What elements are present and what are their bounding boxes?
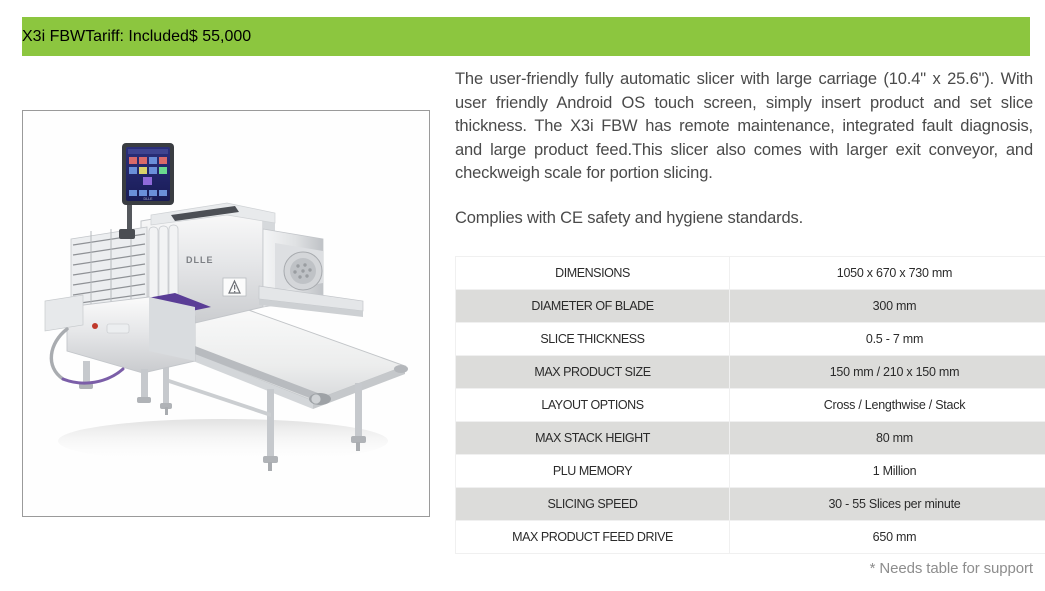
spec-row: MAX PRODUCT SIZE150 mm / 210 x 150 mm bbox=[456, 356, 1045, 389]
description-paragraph: The user-friendly fully automatic slicer… bbox=[455, 68, 1033, 186]
spec-label: LAYOUT OPTIONS bbox=[456, 389, 730, 422]
spec-label: PLU MEMORY bbox=[456, 455, 730, 488]
spec-row: SLICE THICKNESS0.5 - 7 mm bbox=[456, 323, 1045, 356]
spec-label: DIAMETER OF BLADE bbox=[456, 290, 730, 323]
specifications-table: DIMENSIONS1050 x 670 x 730 mmDIAMETER OF… bbox=[455, 256, 1045, 554]
spec-row: DIAMETER OF BLADE300 mm bbox=[456, 290, 1045, 323]
spec-label: DIMENSIONS bbox=[456, 257, 730, 290]
spec-value: 1050 x 670 x 730 mm bbox=[730, 257, 1045, 290]
spec-row: DIMENSIONS1050 x 670 x 730 mm bbox=[456, 257, 1045, 290]
spec-value: 30 - 55 Slices per minute bbox=[730, 488, 1045, 521]
spec-value: Cross / Lengthwise / Stack bbox=[730, 389, 1045, 422]
svg-text:DLLE: DLLE bbox=[144, 197, 154, 201]
product-image-frame: DLLE DLLE bbox=[22, 110, 430, 517]
spec-row: MAX PRODUCT FEED DRIVE650 mm bbox=[456, 521, 1045, 554]
spec-label: MAX PRODUCT SIZE bbox=[456, 356, 730, 389]
slicer-illustration: DLLE DLLE bbox=[23, 111, 429, 516]
product-header-bar: X3i FBW Tariff: Included $ 55,000 bbox=[22, 17, 1030, 56]
model-title: X3i FBW bbox=[22, 28, 85, 46]
specifications-table-body: DIMENSIONS1050 x 670 x 730 mmDIAMETER OF… bbox=[456, 257, 1045, 554]
spec-value: 300 mm bbox=[730, 290, 1045, 323]
footnote: * Needs table for support bbox=[455, 560, 1033, 577]
spec-label: SLICING SPEED bbox=[456, 488, 730, 521]
spec-value: 0.5 - 7 mm bbox=[730, 323, 1045, 356]
product-photo-slicer: DLLE DLLE bbox=[23, 111, 429, 516]
spec-value: 150 mm / 210 x 150 mm bbox=[730, 356, 1045, 389]
tariff-label: Tariff: Included bbox=[85, 28, 189, 46]
spec-row: SLICING SPEED30 - 55 Slices per minute bbox=[456, 488, 1045, 521]
compliance-paragraph: Complies with CE safety and hygiene stan… bbox=[455, 207, 1033, 231]
spec-label: SLICE THICKNESS bbox=[456, 323, 730, 356]
spec-value: 80 mm bbox=[730, 422, 1045, 455]
price-label: $ 55,000 bbox=[189, 28, 251, 46]
spec-row: PLU MEMORY1 Million bbox=[456, 455, 1045, 488]
spec-row: MAX STACK HEIGHT80 mm bbox=[456, 422, 1045, 455]
spec-label: MAX PRODUCT FEED DRIVE bbox=[456, 521, 730, 554]
description-column: The user-friendly fully automatic slicer… bbox=[455, 68, 1033, 230]
spec-label: MAX STACK HEIGHT bbox=[456, 422, 730, 455]
spec-value: 1 Million bbox=[730, 455, 1045, 488]
svg-text:DLLE: DLLE bbox=[186, 255, 214, 265]
spec-value: 650 mm bbox=[730, 521, 1045, 554]
spec-row: LAYOUT OPTIONSCross / Lengthwise / Stack bbox=[456, 389, 1045, 422]
